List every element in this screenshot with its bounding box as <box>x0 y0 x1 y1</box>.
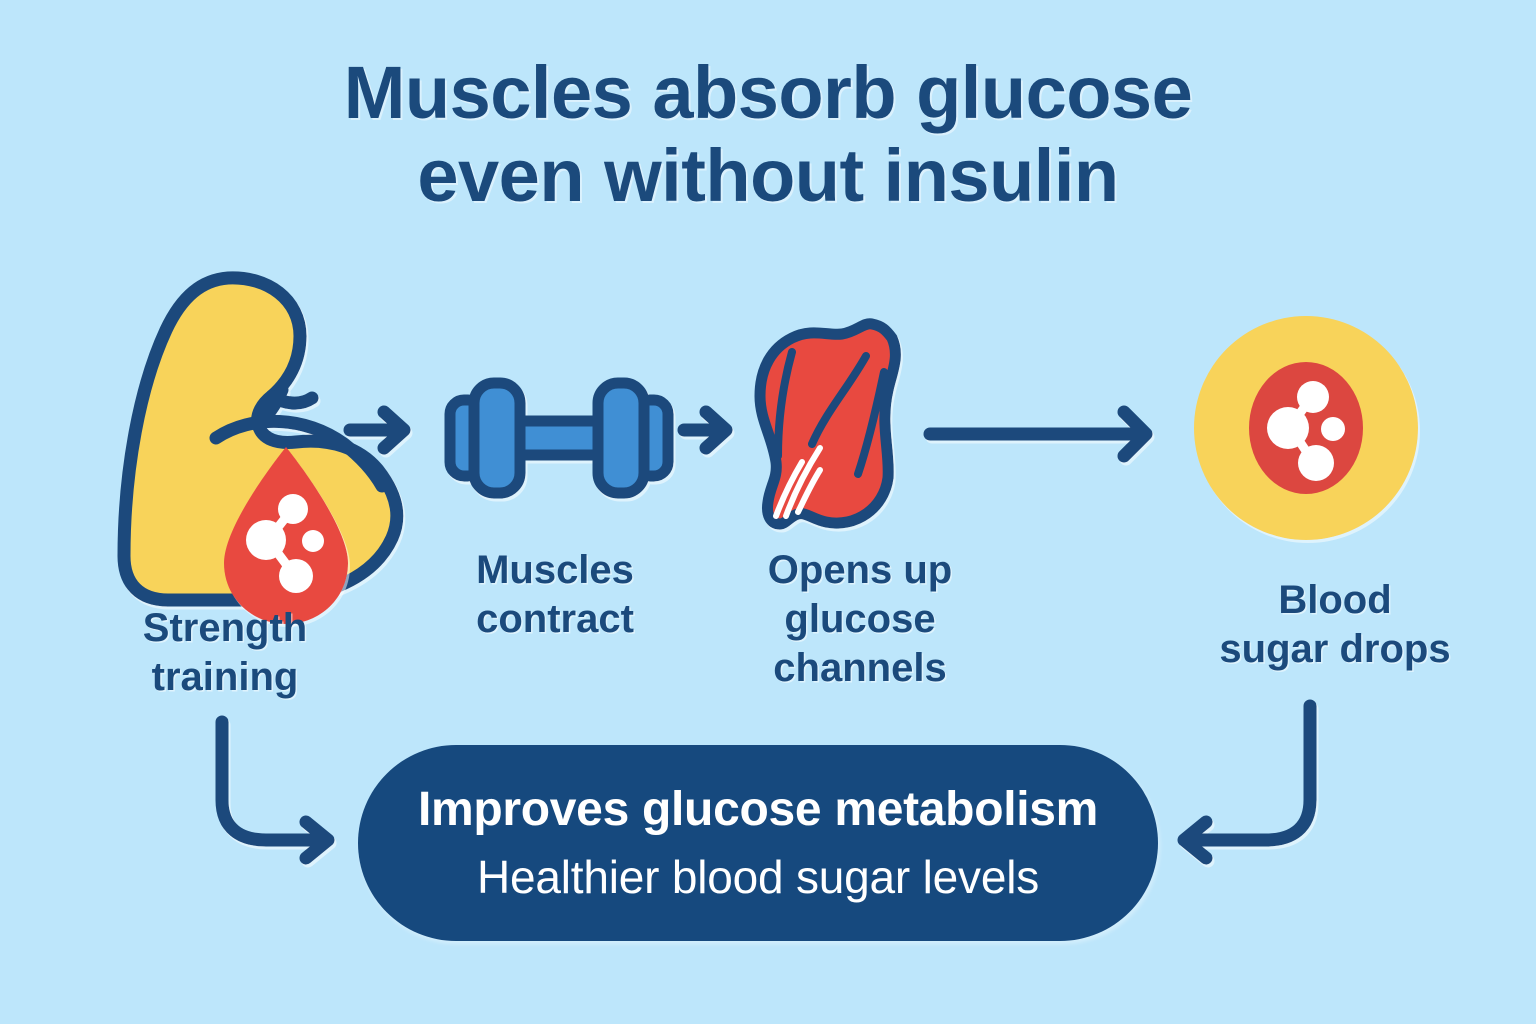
step-label-muscles-contract: Muscles contract <box>390 546 720 644</box>
outcome-banner: Improves glucose metabolism Healthier bl… <box>358 745 1158 941</box>
title-line-2: even without insulin <box>0 135 1536 218</box>
title-line-1: Muscles absorb glucose <box>0 52 1536 135</box>
glucose-molecule-circle-icon <box>1194 316 1418 540</box>
step-label-opens-glucose-channels: Opens up glucose channels <box>700 546 1020 692</box>
arrow-2-icon <box>684 412 726 448</box>
arrow-1-icon <box>350 412 404 448</box>
step-label-strength-training: Strength training <box>60 604 390 702</box>
arrow-right-elbow-icon <box>1184 706 1310 858</box>
step-label-line: sugar drops <box>1160 625 1510 674</box>
muscle-fiber-icon <box>760 324 895 524</box>
step-label-line: training <box>60 653 390 702</box>
arrow-3-icon <box>930 412 1146 456</box>
step-label-line: Blood <box>1160 576 1510 625</box>
dumbbell-icon <box>450 383 668 493</box>
outcome-banner-line-2: Healthier blood sugar levels <box>477 851 1039 904</box>
step-label-line: contract <box>390 595 720 644</box>
step-label-blood-sugar-drops: Blood sugar drops <box>1160 576 1510 674</box>
step-label-line: channels <box>700 644 1020 693</box>
step-label-line: Opens up <box>700 546 1020 595</box>
step-label-line: Muscles <box>390 546 720 595</box>
arrow-left-elbow-icon <box>222 722 328 858</box>
infographic-canvas: Muscles absorb glucose even without insu… <box>0 0 1536 1024</box>
step-label-line: glucose <box>700 595 1020 644</box>
step-label-line: Strength <box>60 604 390 653</box>
page-title: Muscles absorb glucose even without insu… <box>0 52 1536 218</box>
outcome-banner-line-1: Improves glucose metabolism <box>418 782 1098 837</box>
